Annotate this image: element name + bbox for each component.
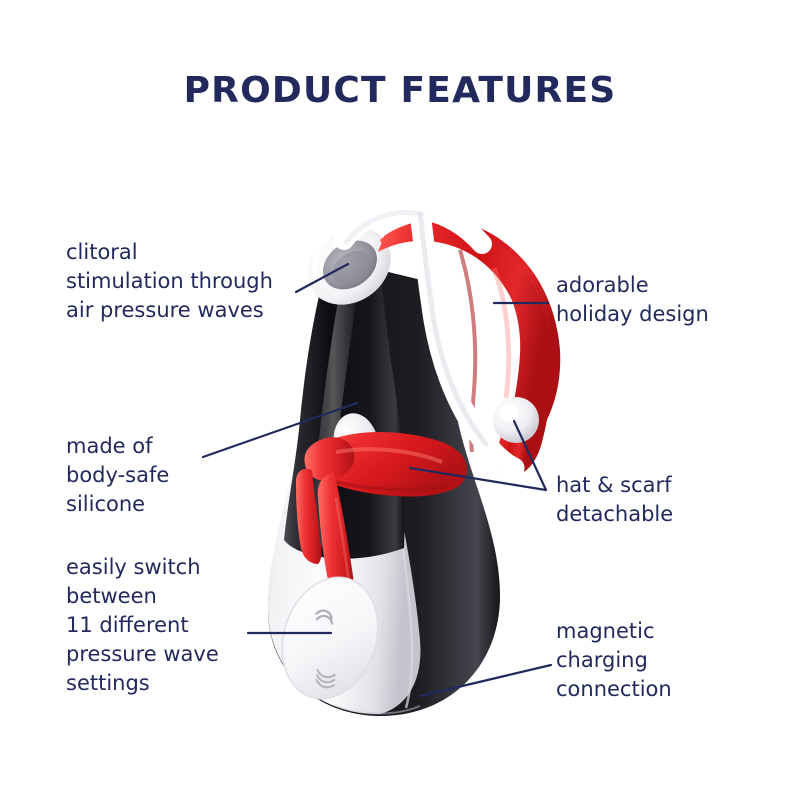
product-features-infographic: PRODUCT FEATURES: [0, 0, 800, 800]
callout-magnetic-charging: magnetic charging connection: [556, 617, 786, 704]
callout-hat-scarf-detachable: hat & scarf detachable: [556, 471, 786, 529]
callout-pressure-wave-settings: easily switch between 11 different press…: [66, 553, 296, 698]
callout-clitoral-stimulation: clitoral stimulation through air pressur…: [66, 238, 326, 325]
callout-holiday-design: adorable holiday design: [556, 271, 786, 329]
callout-body-safe-silicone: made of body-safe silicone: [66, 432, 266, 519]
hat-pompom: [493, 397, 539, 443]
